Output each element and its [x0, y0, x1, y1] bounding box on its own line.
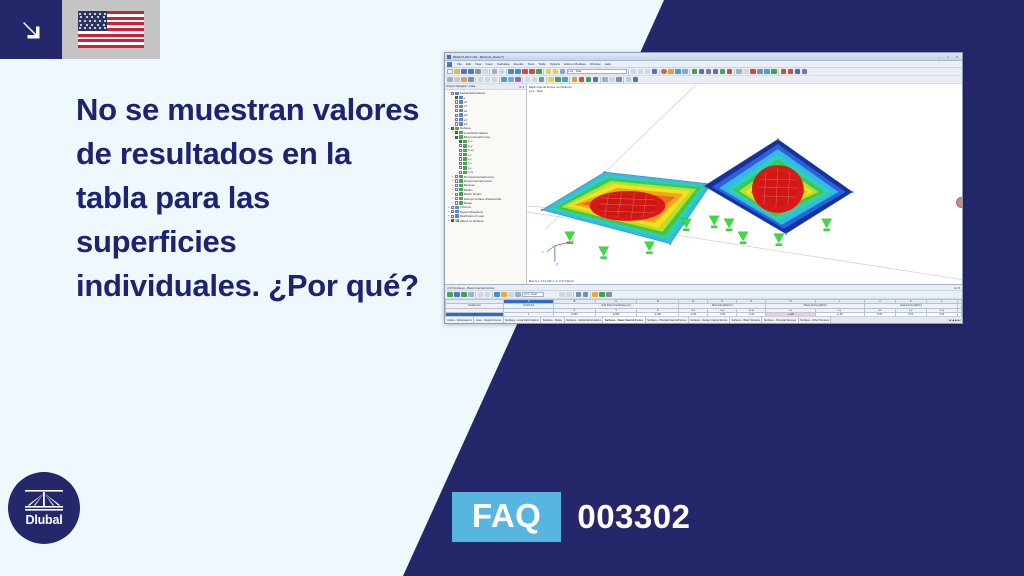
faq-row: FAQ 003302 — [452, 492, 690, 542]
table-sheet-tab[interactable]: Surfaces - Principal Stresses — [762, 317, 798, 323]
tool2-ortho-icon[interactable] — [485, 77, 491, 83]
navigator-tree[interactable]: –Global DeformationsuuXuYuZφXφYφZ–Surfac… — [445, 90, 526, 284]
tree-node-icon — [459, 175, 463, 178]
checkbox-icon[interactable] — [455, 131, 458, 134]
navigator-tree-item-label: Shape — [464, 201, 472, 205]
table-tab-arrow[interactable]: ▶ — [955, 319, 957, 322]
tool-open-icon[interactable] — [454, 69, 460, 75]
tree-node-icon — [459, 100, 463, 103]
svg-text:Z: Z — [556, 263, 558, 267]
table-prev-icon[interactable] — [559, 292, 565, 298]
tool2-select-icon[interactable] — [447, 77, 453, 83]
navigator-tree-item-label: Support Reactions — [460, 210, 483, 214]
tree-node-icon — [455, 127, 459, 130]
tool-surface-icon[interactable] — [692, 69, 698, 75]
tree-node-icon — [463, 140, 467, 143]
tool-check-icon[interactable] — [771, 69, 777, 75]
tool-results-icon[interactable] — [536, 69, 542, 75]
tool-contour-icon[interactable] — [668, 69, 674, 75]
tool2-layer-icon[interactable] — [548, 77, 554, 83]
menu-results[interactable]: Results — [514, 62, 524, 66]
tool-isoband-icon[interactable] — [675, 69, 681, 75]
tree-node-icon — [459, 122, 463, 125]
navigator-tree-item-label: φX — [464, 113, 468, 117]
header-tiles — [0, 0, 160, 59]
table-tab-arrow[interactable]: ▶| — [958, 319, 961, 322]
checkbox-icon[interactable] — [459, 171, 462, 174]
checkbox-icon[interactable] — [455, 188, 458, 191]
checkbox-icon[interactable] — [451, 219, 454, 222]
window-buttons[interactable]: – □ ✕ — [936, 55, 960, 59]
tool-redo-icon[interactable] — [515, 69, 521, 75]
menu-file[interactable]: File — [457, 62, 462, 66]
tool2-result-iso-icon[interactable] — [572, 77, 578, 83]
menu-table[interactable]: Table — [539, 62, 546, 66]
tool2-grid-icon[interactable] — [478, 77, 484, 83]
tool-settings-icon[interactable] — [757, 69, 763, 75]
checkbox-icon[interactable] — [455, 201, 458, 204]
table-view-icon[interactable] — [606, 292, 612, 298]
navigator-tree-item-label: n-y — [468, 166, 472, 170]
table-load-case-combo[interactable]: LC1 - Total — [522, 292, 544, 298]
table-sheet-tabs[interactable]: Nodes - DeformationsLines - Support Forc… — [445, 316, 962, 323]
load-case-combo[interactable]: LC1 - Total — [567, 69, 627, 75]
tree-node-icon — [463, 162, 467, 165]
table-copy-icon[interactable] — [468, 292, 474, 298]
menu-window[interactable]: Window — [590, 62, 601, 66]
tool-calcall-icon[interactable] — [529, 69, 535, 75]
tool2-anim-icon[interactable] — [602, 77, 608, 83]
table-sheet-tab[interactable]: Surfaces - Basic Stresses — [730, 317, 763, 323]
navigator-tree-item-label: Surfaces — [460, 126, 471, 130]
table-filter-icon[interactable] — [485, 292, 491, 298]
navigator-tree-item-label: Stresses — [464, 183, 475, 187]
tree-node-icon — [459, 118, 463, 121]
tree-node-icon — [455, 92, 459, 95]
flag-tile — [62, 0, 160, 59]
tool2-view-top-icon[interactable] — [532, 77, 538, 83]
tool-zoomout-icon[interactable] — [638, 69, 644, 75]
menu-grid-icon[interactable] — [447, 62, 452, 67]
dlubal-logo-text: Dlubal — [26, 513, 63, 527]
checkbox-icon[interactable] — [459, 149, 462, 152]
checkbox-icon[interactable] — [455, 136, 458, 139]
tool2-coords-icon[interactable] — [515, 77, 521, 83]
tree-node-icon — [463, 166, 467, 169]
tree-node-icon — [459, 179, 463, 182]
checkbox-icon[interactable] — [459, 153, 462, 156]
results-table-panel[interactable]: 4.13 Surfaces - Basic Internal Forces ⊟ … — [445, 284, 962, 323]
results-data-table: ABCDEFGHIJKL Surface No.Grid PointGrid P… — [445, 299, 962, 316]
tool-load-icon[interactable] — [727, 69, 733, 75]
navigator-bottom-tabs[interactable]: DataDisplayViewsResults — [445, 323, 962, 324]
tree-node-icon — [463, 149, 467, 152]
tool-info-icon[interactable] — [764, 69, 770, 75]
table-panel-wrapper: 4.13 Surfaces - Basic Internal Forces ⊟ … — [445, 284, 962, 323]
table-export-icon[interactable] — [454, 292, 460, 298]
tree-node-icon — [463, 171, 467, 174]
checkbox-icon[interactable] — [459, 140, 462, 143]
tree-node-icon — [459, 197, 463, 200]
tool-deformation-icon[interactable] — [661, 69, 667, 75]
tool-render-icon[interactable] — [560, 69, 566, 75]
tool-dimension-icon[interactable] — [743, 69, 749, 75]
table-color-icon[interactable] — [501, 292, 507, 298]
tree-node-icon — [463, 153, 467, 156]
navigator-tree-item-label: v-y — [468, 157, 472, 161]
tool-copy-icon[interactable] — [499, 69, 505, 75]
tool-member-icon[interactable] — [699, 69, 705, 75]
dlubal-truss-logo-icon — [24, 489, 64, 511]
svg-text:Y: Y — [542, 251, 545, 255]
navigator-tree-item-label: u — [464, 96, 466, 100]
tool-node-icon[interactable] — [706, 69, 712, 75]
navigator-tree-item-label: Design Internal Forces — [464, 179, 492, 183]
tool-module-ra-icon[interactable] — [781, 69, 787, 75]
tool-new-icon[interactable] — [447, 69, 453, 75]
table-excel-icon[interactable] — [461, 292, 467, 298]
table-settings-icon[interactable] — [592, 292, 598, 298]
viewport-minmax-label: Max m-x: 0.14, Min m-x: -0.07 kNm/m — [529, 280, 574, 283]
tree-node-icon — [455, 214, 459, 217]
faq-number: 003302 — [577, 498, 690, 536]
arrow-down-right-icon — [18, 17, 44, 43]
table-sheet-tab[interactable]: Lines - Support Forces — [474, 317, 503, 323]
dlubal-logo: Dlubal — [8, 472, 80, 544]
navigator-pin-icon[interactable]: ⊟ ✕ — [519, 85, 524, 89]
tool2-snap-icon[interactable] — [468, 77, 474, 83]
window-titlebar: RFEM 5.2017.x64 - [Beispiel_Raster*] – □… — [445, 53, 962, 61]
tree-node-icon — [459, 131, 463, 134]
tool-save-icon[interactable] — [461, 69, 467, 75]
table-sheet-tab[interactable]: Surfaces - Principal Internal Forces — [646, 317, 689, 323]
tool-module-rc-icon[interactable] — [795, 69, 801, 75]
tool2-result-surf-icon[interactable] — [593, 77, 599, 83]
navigator-tree-item-label: Columns — [460, 205, 471, 209]
table-calc-icon[interactable] — [599, 292, 605, 298]
navigator-tree-item-label: uX — [464, 100, 467, 104]
checkbox-icon[interactable] — [459, 166, 462, 169]
tree-node-icon — [459, 113, 463, 116]
navigator-tree-item-label: n-x — [468, 161, 472, 165]
table-print-icon[interactable] — [447, 292, 453, 298]
table-edit-icon[interactable] — [583, 292, 589, 298]
navigator-tree-item-label: n-xy — [468, 170, 473, 174]
checkbox-icon[interactable] — [455, 105, 458, 108]
tree-node-icon — [455, 206, 459, 209]
table-tab-arrow[interactable]: ◀ — [952, 319, 954, 322]
tree-node-icon — [459, 96, 463, 99]
menu-tools[interactable]: Tools — [528, 62, 535, 66]
project-navigator[interactable]: Project Navigator - Data ⊟ ✕ –Global Def… — [445, 84, 527, 284]
tree-node-icon — [459, 135, 463, 138]
checkbox-icon[interactable] — [451, 127, 454, 130]
table-title-text: 4.13 Surfaces - Basic Internal Forces — [447, 286, 495, 290]
navigator-tree-item-label: Principal Internal Forces — [464, 175, 494, 179]
tool2-view-front-icon[interactable] — [525, 77, 531, 83]
tool-pan-icon[interactable] — [645, 69, 651, 75]
app-icon — [447, 55, 451, 59]
table-sheet-tab[interactable]: Nodes - Deformations — [446, 317, 474, 323]
checkbox-icon[interactable] — [451, 206, 454, 209]
checkbox-icon[interactable] — [459, 157, 462, 160]
tree-node-icon — [463, 144, 467, 147]
table-sheet-tab[interactable]: Surfaces - Basic Internal Forces — [603, 317, 645, 323]
tool2-group-icon[interactable] — [555, 77, 561, 83]
table-units-icon[interactable] — [515, 292, 521, 298]
tool-support-icon[interactable] — [720, 69, 726, 75]
tree-node-icon — [455, 219, 459, 222]
tool-line-icon[interactable] — [713, 69, 719, 75]
table-sheet-tab[interactable]: Surfaces - Shape — [541, 317, 564, 323]
tool-print-icon[interactable] — [475, 69, 481, 75]
navigator-tree-item-label: m-x — [468, 139, 473, 143]
navigator-tree-item-label: φY — [464, 118, 468, 122]
menu-addon-modules[interactable]: Add-on Modules — [564, 62, 586, 66]
navigator-title: Project Navigator - Data — [447, 85, 476, 88]
tool2-filter-icon[interactable] — [616, 77, 622, 83]
checkbox-icon[interactable] — [455, 109, 458, 112]
minimize-icon[interactable]: – — [936, 55, 942, 59]
navigator-tree-item-label: Local Deformations — [464, 131, 488, 135]
checkbox-icon[interactable] — [451, 215, 454, 218]
tool2-eraser-icon[interactable] — [461, 77, 467, 83]
results-grid[interactable]: ABCDEFGHIJKL Surface No.Grid PointGrid P… — [445, 299, 962, 316]
table-sheet-tab[interactable]: Surfaces - Local Deformations — [504, 317, 542, 323]
navigator-tree-item-label: v-x — [468, 153, 472, 157]
menu-options[interactable]: Options — [550, 62, 560, 66]
table-grid-icon[interactable] — [508, 292, 514, 298]
view-rotation-badge[interactable] — [956, 197, 962, 208]
tree-node-icon — [459, 188, 463, 191]
close-icon[interactable]: ✕ — [954, 55, 960, 59]
tool-table-icon[interactable] — [546, 69, 552, 75]
checkbox-icon[interactable] — [455, 184, 458, 187]
menu-view[interactable]: View — [475, 62, 481, 66]
tool2-view-iso-icon[interactable] — [539, 77, 545, 83]
navigator-tree-item-label: m-y — [468, 144, 473, 148]
tree-node-icon — [459, 105, 463, 108]
navigator-tree-item-label: Isotropic surface characteristic — [464, 197, 502, 201]
navigator-tree-item[interactable]: +Values on Surfaces — [446, 218, 526, 222]
tool-tablegrid-icon[interactable] — [553, 69, 559, 75]
tree-node-icon — [459, 192, 463, 195]
table-sheet-tab[interactable]: Surfaces - Other Stresses — [799, 317, 832, 323]
flag-canton — [78, 11, 107, 31]
table-toolbar[interactable]: LC1 - Total — [445, 291, 962, 299]
faq-badge: FAQ — [452, 492, 561, 542]
table-tab-arrow[interactable]: |◀ — [948, 319, 951, 322]
menu-calculate[interactable]: Calculate — [497, 62, 510, 66]
flag-usa — [78, 11, 144, 48]
tool2-visibility-icon[interactable] — [562, 77, 568, 83]
navigator-tree-item-label: Basic Internal Forces — [464, 135, 490, 139]
tool-calculate-icon[interactable] — [522, 69, 528, 75]
tool-cut-icon[interactable] — [492, 69, 498, 75]
tool-printpreview-icon[interactable] — [482, 69, 488, 75]
tool2-polar-icon[interactable] — [492, 77, 498, 83]
navigator-tree-item-label: Values on Surfaces — [460, 219, 484, 223]
tree-node-icon — [459, 201, 463, 204]
tool2-result-sec-icon[interactable] — [586, 77, 592, 83]
checkbox-icon[interactable] — [459, 144, 462, 147]
checkbox-icon[interactable] — [455, 179, 458, 182]
tree-node-icon — [459, 109, 463, 112]
tree-node-icon — [463, 157, 467, 160]
tool-zoomin-icon[interactable] — [631, 69, 637, 75]
window-title: RFEM 5.2017.x64 - [Beispiel_Raster*] — [453, 55, 504, 59]
navigator-tree-item-label: uZ — [464, 109, 467, 113]
tool2-scale-icon[interactable] — [609, 77, 615, 83]
tree-node-icon — [455, 210, 459, 213]
toolbar-row-2[interactable] — [445, 76, 962, 84]
menu-insert[interactable]: Insert — [485, 62, 493, 66]
tree-node-icon — [459, 184, 463, 187]
tool-module-rb-icon[interactable] — [788, 69, 794, 75]
tool-module-rd-icon[interactable] — [802, 69, 808, 75]
checkbox-icon[interactable] — [451, 210, 454, 213]
toolbar-row-1[interactable]: LC1 - Total — [445, 68, 962, 76]
navigator-tree-item-label: Strains — [464, 188, 473, 192]
navigator-tree-item-label: uY — [464, 104, 467, 108]
tool2-workplane-icon[interactable] — [508, 77, 514, 83]
checkbox-icon[interactable] — [455, 122, 458, 125]
menubar[interactable]: File Edit View Insert Calculate Results … — [445, 61, 962, 68]
tool2-export-icon[interactable] — [633, 77, 639, 83]
tool-delete-icon[interactable] — [750, 69, 756, 75]
tool2-result-val-icon[interactable] — [579, 77, 585, 83]
work-area: Project Navigator - Data ⊟ ✕ –Global Def… — [445, 84, 962, 284]
table-sheet-tab[interactable]: Surfaces - Global Deformations — [565, 317, 604, 323]
menu-edit[interactable]: Edit — [466, 62, 471, 66]
svg-text:X: X — [572, 239, 575, 243]
tool2-plane-icon[interactable] — [501, 77, 507, 83]
navigator-tree-item-label: Distribution of Load — [460, 214, 484, 218]
checkbox-icon[interactable] — [455, 100, 458, 103]
arrow-tile — [0, 0, 62, 59]
checkbox-icon[interactable] — [455, 118, 458, 121]
navigator-tree-item-label: Global Deformations — [460, 91, 486, 95]
navigator-tree-item-label: φZ — [464, 122, 468, 126]
rfem-application-window[interactable]: RFEM 5.2017.x64 - [Beispiel_Raster*] – □… — [444, 52, 963, 324]
table-undo-icon[interactable] — [494, 292, 500, 298]
checkbox-icon[interactable] — [455, 96, 458, 99]
table-tab-navigation[interactable]: |◀◀▶▶| — [948, 319, 962, 322]
tool-rotate-icon[interactable] — [652, 69, 658, 75]
checkbox-icon[interactable] — [455, 175, 458, 178]
navigator-tree-item-label: Plastic Strains — [464, 192, 482, 196]
checkbox-icon[interactable] — [455, 114, 458, 117]
tool2-print-region-icon[interactable] — [626, 77, 632, 83]
table-pin-icon[interactable]: ⊟ ✕ — [954, 286, 960, 290]
maximize-icon[interactable]: □ — [945, 55, 951, 59]
tool-measure-icon[interactable] — [736, 69, 742, 75]
checkbox-icon[interactable] — [455, 193, 458, 196]
checkbox-icon[interactable] — [455, 197, 458, 200]
menu-help[interactable]: Help — [605, 62, 611, 66]
model-viewport[interactable]: Basic Internal Forces m-x [kNm/m] LC1 - … — [527, 84, 962, 284]
table-pin2-icon[interactable] — [576, 292, 582, 298]
table-sheet-tab[interactable]: Surfaces - Design Internal Forces — [689, 317, 730, 323]
tool-undo-icon[interactable] — [508, 69, 514, 75]
navigator-tree-item-label: m-xy — [468, 148, 474, 152]
tool-isoline-icon[interactable] — [682, 69, 688, 75]
checkbox-icon[interactable] — [451, 92, 454, 95]
page-title: No se muestran valores de resultados en … — [76, 88, 426, 308]
tool2-pencil-icon[interactable] — [454, 77, 460, 83]
tool-saveall-icon[interactable] — [468, 69, 474, 75]
model-3d-render[interactable]: Z X Y — [527, 84, 962, 284]
checkbox-icon[interactable] — [459, 162, 462, 165]
table-next-icon[interactable] — [566, 292, 572, 298]
table-selection-icon[interactable] — [478, 292, 484, 298]
